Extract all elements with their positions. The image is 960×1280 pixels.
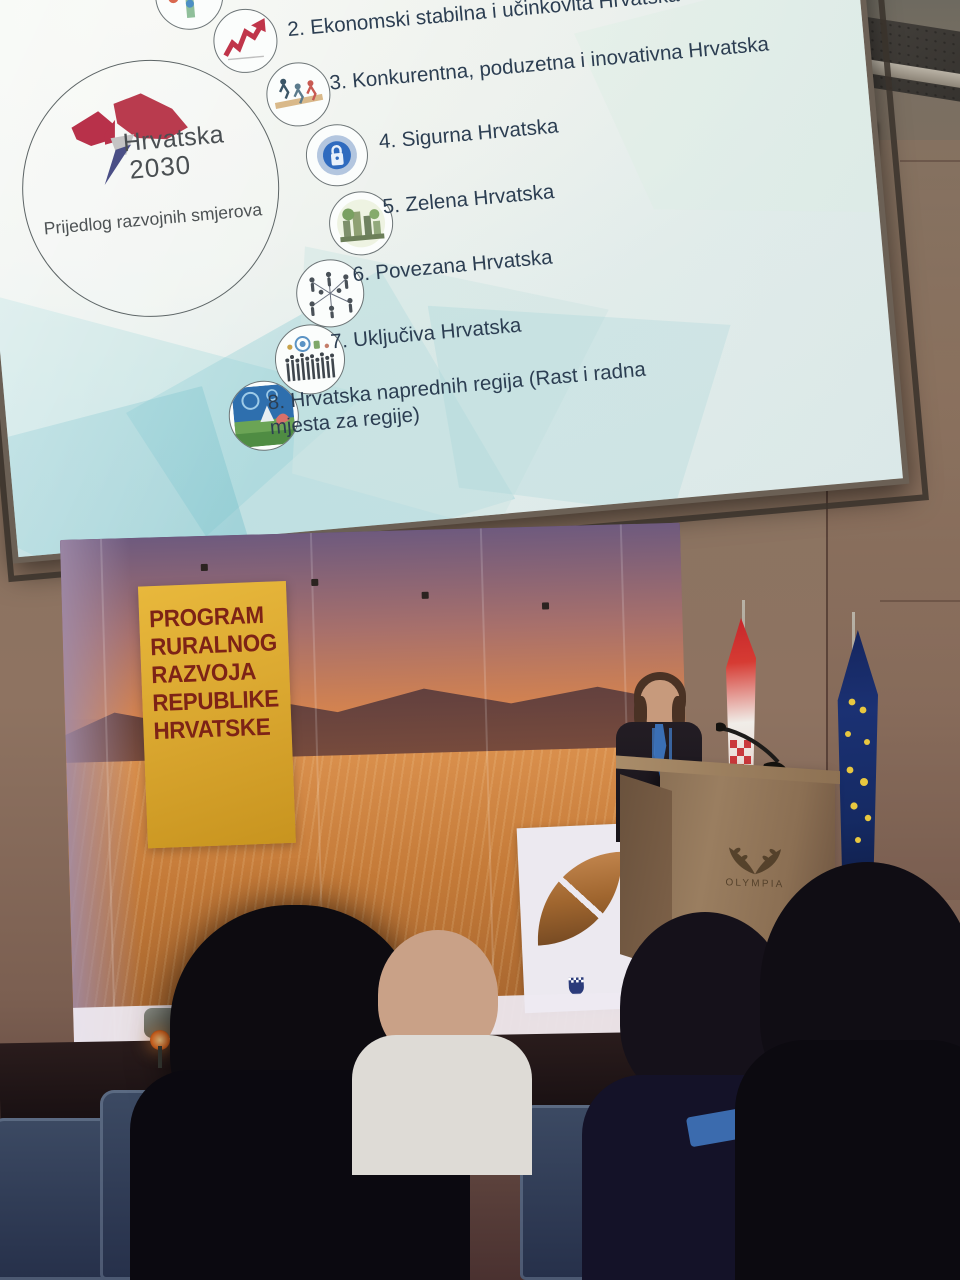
leaf-icon	[532, 850, 628, 950]
audience-shoulders	[352, 1035, 532, 1175]
podium-label: OLYMPIA	[714, 877, 796, 891]
audience-shoulders	[735, 1040, 960, 1280]
conference-photo: Hrvatska 2030 Prijedlog razvojnih smjero…	[0, 0, 960, 1280]
program-poster: PROGRAM RURALNOG RAZVOJA REPUBLIKE HRVAT…	[138, 581, 296, 848]
projection-screen: Hrvatska 2030 Prijedlog razvojnih smjero…	[0, 0, 910, 568]
wall-seam	[880, 600, 960, 602]
screen-border	[0, 0, 929, 582]
poster-line: HRVATSKE	[153, 714, 277, 747]
poster-text: PROGRAM RURALNOG RAZVOJA REPUBLIKE HRVAT…	[149, 601, 286, 746]
laurel-wreath-icon	[723, 841, 787, 877]
wall-seam	[900, 160, 960, 162]
podium-logo: OLYMPIA	[714, 841, 796, 891]
